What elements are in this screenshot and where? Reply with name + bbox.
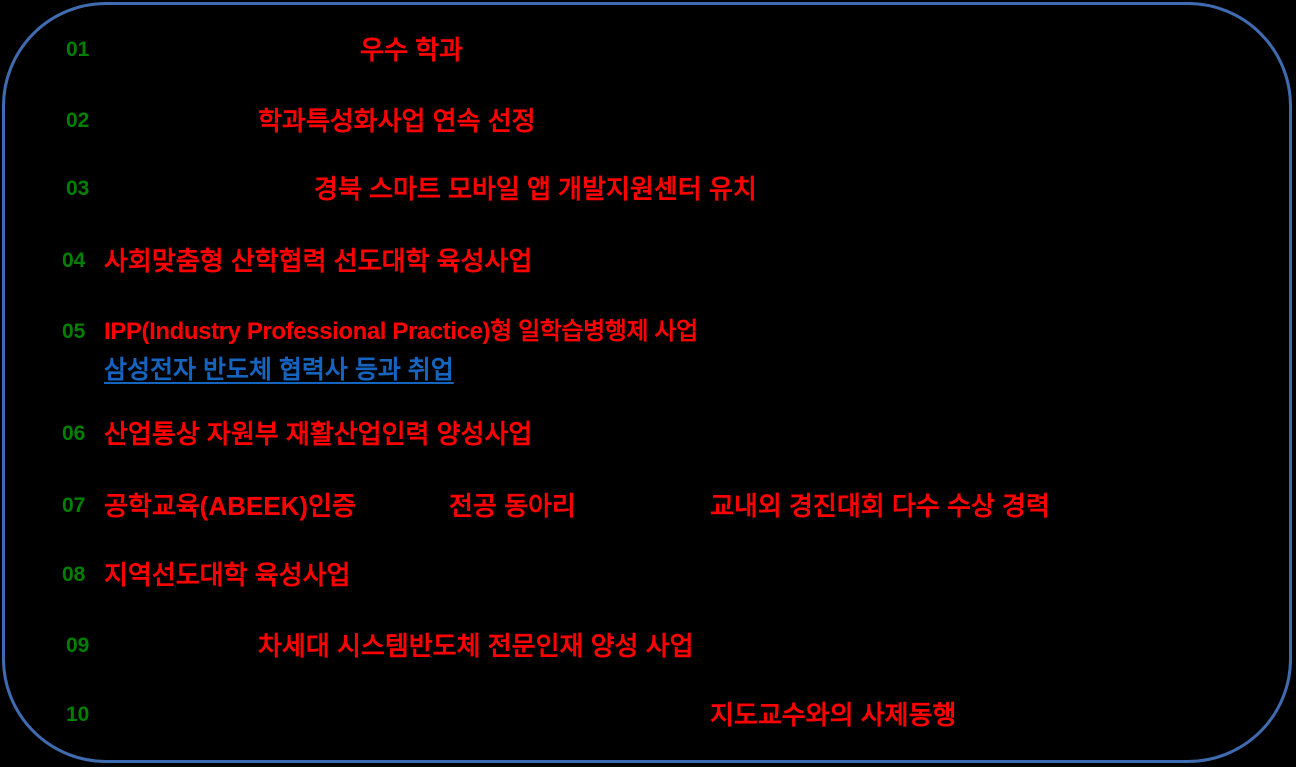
achievement-text: 사회맞춤형 산학협력 선도대학 육성사업 bbox=[104, 239, 532, 283]
achievement-text: 우수 학과 bbox=[360, 28, 463, 72]
achievement-text: 학과특성화사업 연속 선정 bbox=[258, 99, 536, 143]
row-number: 01 bbox=[66, 28, 89, 72]
row-number: 08 bbox=[62, 553, 85, 597]
achievement-text: 전공 동아리 bbox=[449, 484, 576, 528]
achievement-text: 지역선도대학 육성사업 bbox=[104, 553, 350, 597]
achievement-text: 교내외 경진대회 다수 수상 경력 bbox=[710, 484, 1050, 528]
achievement-text: 차세대 시스템반도체 전문인재 양성 사업 bbox=[258, 624, 694, 668]
achievement-row: 01우수 학과 bbox=[0, 28, 1296, 72]
achievement-row: 09차세대 시스템반도체 전문인재 양성 사업 bbox=[0, 624, 1296, 668]
slide-stage: 01우수 학과02학과특성화사업 연속 선정03경북 스마트 모바일 앱 개발지… bbox=[0, 0, 1296, 767]
achievement-row: 05IPP(Industry Professional Practice)형 일… bbox=[0, 310, 1296, 354]
achievement-row: 07공학교육(ABEEK)인증전공 동아리교내외 경진대회 다수 수상 경력 bbox=[0, 484, 1296, 528]
row-number: 07 bbox=[62, 484, 85, 528]
achievement-text: 산업통상 자원부 재활산업인력 양성사업 bbox=[104, 412, 532, 456]
achievement-row: 02학과특성화사업 연속 선정 bbox=[0, 99, 1296, 143]
achievement-text: 공학교육(ABEEK)인증 bbox=[104, 484, 356, 528]
achievement-row: 06산업통상 자원부 재활산업인력 양성사업 bbox=[0, 412, 1296, 456]
achievement-text: 경북 스마트 모바일 앱 개발지원센터 유치 bbox=[314, 167, 757, 211]
achievement-text: 지도교수와의 사제동행 bbox=[710, 693, 956, 737]
row-number: 04 bbox=[62, 239, 85, 283]
row-number: 09 bbox=[66, 624, 89, 668]
row-number: 02 bbox=[66, 99, 89, 143]
achievement-row: 08지역선도대학 육성사업 bbox=[0, 553, 1296, 597]
row-number: 03 bbox=[66, 167, 89, 211]
achievement-list: 01우수 학과02학과특성화사업 연속 선정03경북 스마트 모바일 앱 개발지… bbox=[0, 0, 1296, 767]
row-number: 05 bbox=[62, 310, 85, 354]
achievement-text: IPP(Industry Professional Practice)형 일학습… bbox=[104, 310, 698, 354]
row-number: 10 bbox=[66, 693, 89, 737]
row-number: 06 bbox=[62, 412, 85, 456]
achievement-row: 04사회맞춤형 산학협력 선도대학 육성사업 bbox=[0, 239, 1296, 283]
employment-link[interactable]: 삼성전자 반도체 협력사 등과 취업 bbox=[104, 350, 454, 390]
achievement-row: 03경북 스마트 모바일 앱 개발지원센터 유치 bbox=[0, 167, 1296, 211]
achievement-row: 10지도교수와의 사제동행 bbox=[0, 693, 1296, 737]
